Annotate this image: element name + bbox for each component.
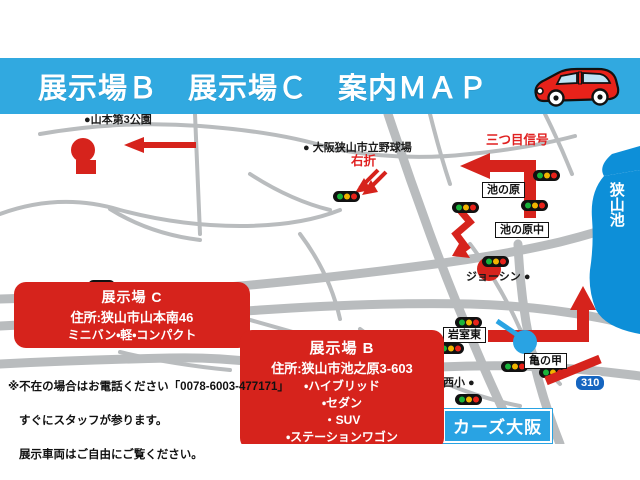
map-page: 展示場Ｂ 展示場Ｃ 案内ＭＡＰ <box>0 0 640 480</box>
red-minivan-icon <box>528 64 622 110</box>
label-yamamoto-park: ●山本第3公園 <box>84 114 152 127</box>
footer-notes: ※不在の場合はお電話ください「0078-6003-477171」 すぐにスタッフ… <box>8 362 308 480</box>
label-turn-right: 右折 <box>351 154 376 168</box>
label-baseball-stadium: ● 大阪狭山市立野球場 <box>303 142 412 155</box>
label-iwamuro-higashi: 岩室東 <box>443 327 486 343</box>
label-kamenoko: 亀の甲 <box>524 353 567 369</box>
marker-hall-c <box>71 138 95 162</box>
hall-c-items: ミニバン・軽・コンパクト <box>14 326 250 343</box>
label-ikenohara-naka: 池の原中 <box>495 222 549 238</box>
hall-b-title: 展示場 B <box>240 337 444 358</box>
callout-hall-c: 展示場 C 住所:狭山市山本南46 ミニバン・軽・コンパクト <box>14 282 250 348</box>
route-arrow-top-left <box>124 137 196 153</box>
note-line-2: すぐにスタッフが参ります。 <box>8 413 308 430</box>
marker-cars-osaka <box>513 330 537 354</box>
label-ikenohara: 池の原 <box>482 182 525 198</box>
header-banner: 展示場Ｂ 展示場Ｃ 案内ＭＡＰ <box>0 58 640 114</box>
route-shield-310: 310 <box>575 375 605 391</box>
label-sayama-lake: 狭山池 <box>607 182 624 227</box>
note-line-3: 展示車両はご自由にご覧ください。 <box>8 447 308 464</box>
route-arrow-zigzag <box>452 208 470 258</box>
hall-c-title: 展示場 C <box>14 287 250 307</box>
note-line-1: ※不在の場合はお電話ください「0078-6003-477171」 <box>8 379 308 396</box>
turn-right-arrows <box>355 170 386 195</box>
hall-c-address: 住所:狭山市山本南46 <box>14 307 250 326</box>
page-title: 展示場Ｂ 展示場Ｃ 案内ＭＡＰ <box>38 65 488 107</box>
label-joshin: ジョーシン ● <box>466 271 530 284</box>
label-third-signal: 三つ目信号 <box>486 133 549 147</box>
cars-osaka-label: カーズ大阪 <box>443 409 552 443</box>
